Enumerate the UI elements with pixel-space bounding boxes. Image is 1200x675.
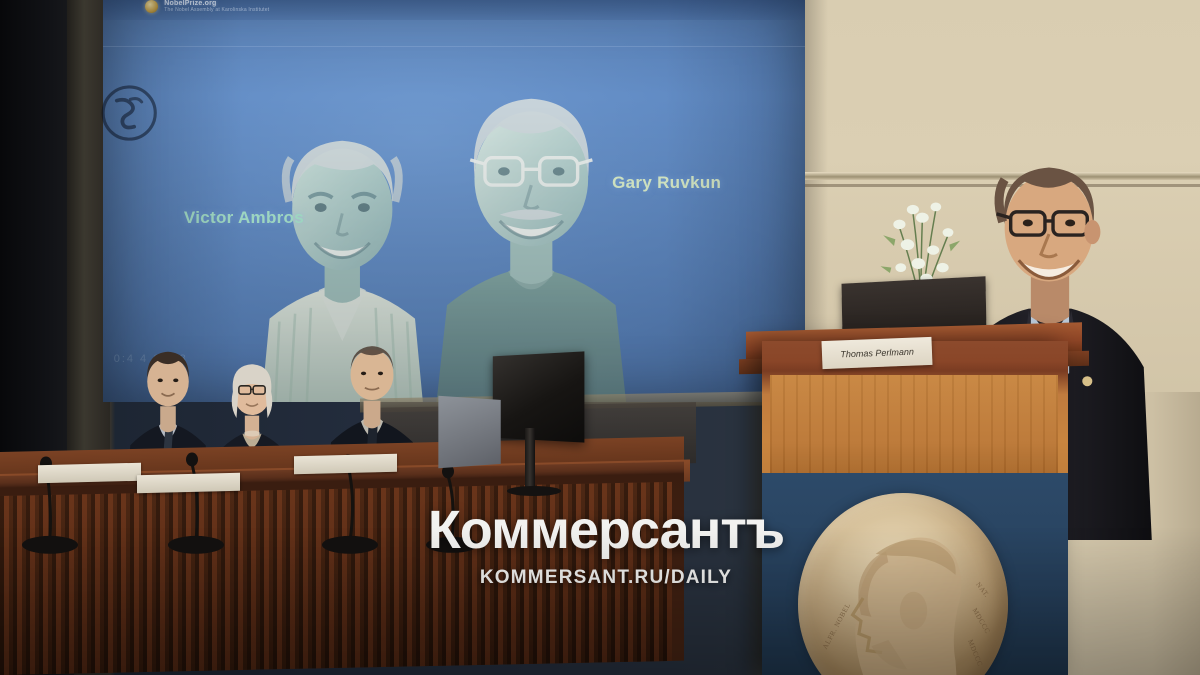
desk-monitor[interactable] [486,354,600,496]
monitor-base [507,486,562,496]
kommersant-emblem-icon [98,82,160,144]
nobel-prize-logo-icon [145,0,158,13]
monitor-screen-back [492,352,583,444]
nobel-medal-relief: ALFR. NOBEL NAT. MDCCC MDCCC [798,493,1008,675]
panelist-name-card-left [38,463,141,483]
panelist-name-card-right [294,454,397,474]
projection-header-subtitle: The Nobel Assembly at Karolinska Institu… [164,8,269,13]
monitor-stand [525,428,535,490]
lectern-nameplate-text: Thomas Perlmann [840,347,914,360]
panelist-name-card-center [137,473,240,493]
photo-canvas: NobelPrize.org The Nobel Assembly at Kar… [0,0,1200,675]
laureate-name-left: Victor Ambros [184,208,304,228]
desk-laptop[interactable] [438,396,501,468]
lectern-nameplate: Thomas Perlmann [821,337,932,370]
laureate-name-right: Gary Ruvkun [612,173,721,193]
lectern-wood-panel [770,375,1058,473]
